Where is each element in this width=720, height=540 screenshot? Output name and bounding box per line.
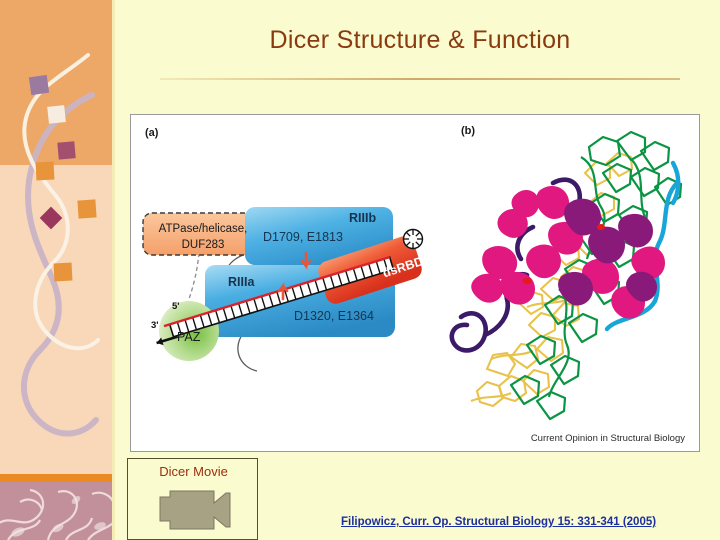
rna-loop-end-icon bbox=[404, 230, 423, 249]
dicer-crystal-structure bbox=[441, 129, 691, 429]
title-divider bbox=[160, 78, 680, 80]
sidebar-edge bbox=[112, 0, 115, 540]
dicer-movie-label: Dicer Movie bbox=[128, 464, 259, 479]
figure-panel: (a) (b) bbox=[130, 114, 700, 452]
slide-canvas: Dicer Structure & Function (a) (b) bbox=[0, 0, 720, 540]
dicer-domain-schematic bbox=[135, 135, 475, 435]
citation-link[interactable]: Filipowicz, Curr. Op. Structural Biology… bbox=[341, 516, 656, 528]
decorative-sidebar bbox=[0, 0, 115, 540]
sidebar-wave-decoration bbox=[0, 0, 115, 540]
figure-credit: Current Opinion in Structural Biology bbox=[531, 433, 685, 444]
video-camera-icon[interactable] bbox=[156, 487, 234, 533]
page-title: Dicer Structure & Function bbox=[140, 26, 700, 55]
dicer-movie-button[interactable]: Dicer Movie bbox=[127, 458, 258, 540]
atpase-helicase-box bbox=[143, 213, 253, 255]
